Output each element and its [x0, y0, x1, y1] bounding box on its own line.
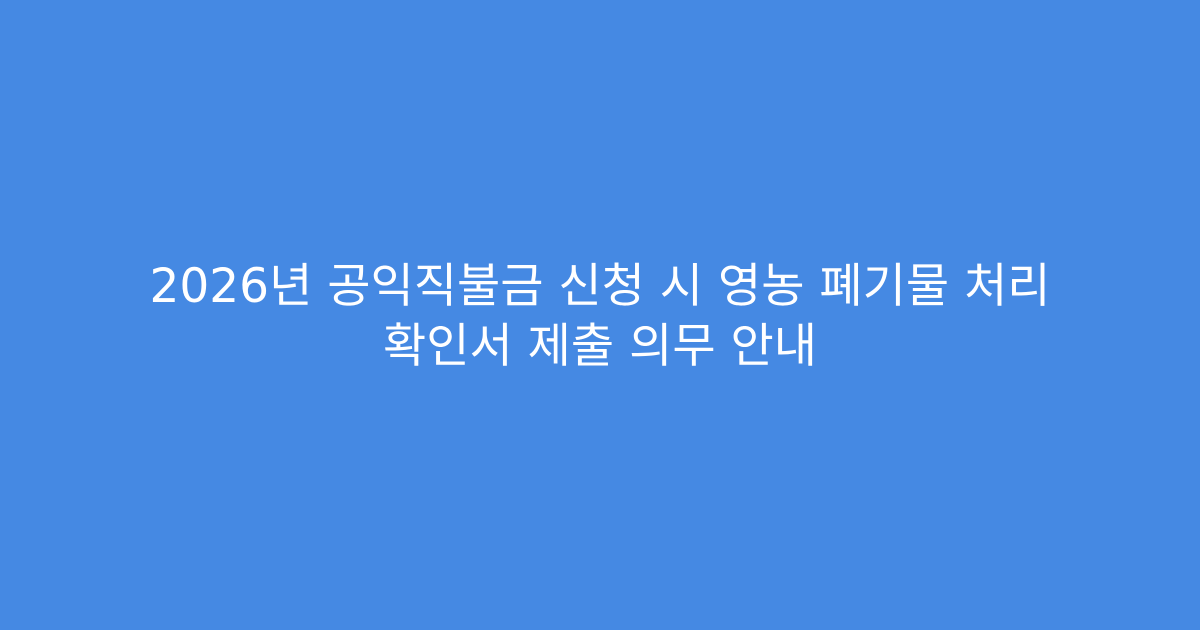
- page-title-line-2: 확인서 제출 의무 안내: [95, 317, 1105, 377]
- page-title: 2026년 공익직불금 신청 시 영농 폐기물 처리 확인서 제출 의무 안내: [95, 257, 1105, 377]
- page-title-line-1: 2026년 공익직불금 신청 시 영농 폐기물 처리: [95, 257, 1105, 317]
- og-card: 2026년 공익직불금 신청 시 영농 폐기물 처리 확인서 제출 의무 안내: [0, 0, 1200, 630]
